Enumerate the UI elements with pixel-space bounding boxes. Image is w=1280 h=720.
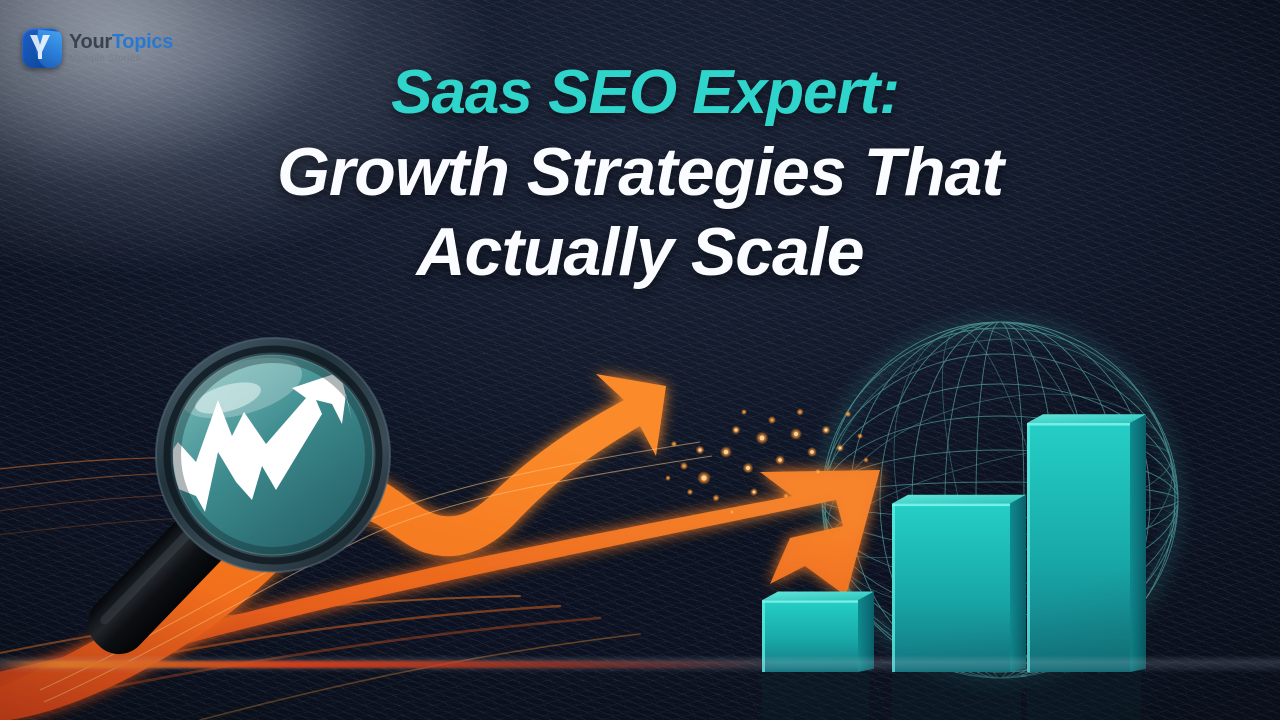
headline-line-3: Actually Scale	[0, 218, 1280, 286]
brand-name-part2: Topics	[112, 31, 173, 53]
banner-canvas: YourTopics Multiple Stories Saas SEO Exp…	[0, 0, 1280, 720]
baseline-red-streak	[0, 661, 780, 668]
bar-3	[1027, 414, 1146, 720]
headline-line-1: Saas SEO Expert:	[10, 62, 1280, 124]
bar-2	[892, 495, 1026, 720]
brand-name-part1: Your	[69, 31, 112, 53]
headline-line-2: Growth Strategies That	[0, 138, 1280, 206]
headline-block: Saas SEO Expert: Growth Strategies That …	[0, 62, 1280, 286]
brand-name: YourTopics	[69, 32, 173, 52]
